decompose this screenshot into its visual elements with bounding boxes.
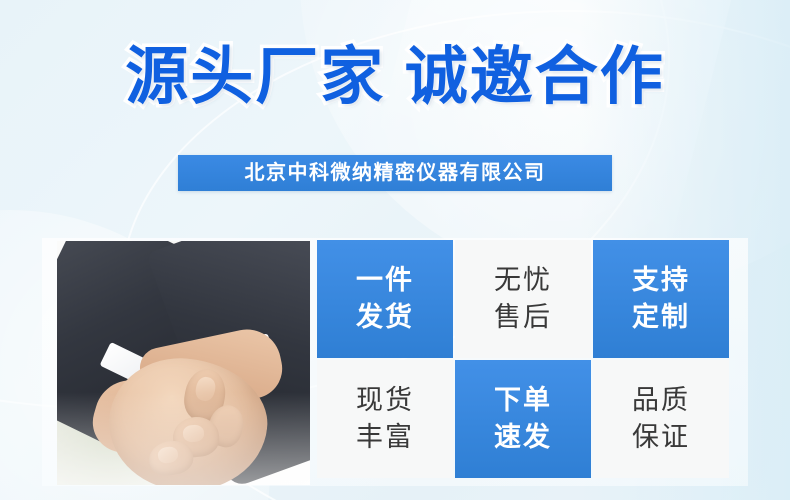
feature-cell-5[interactable]: 下单 速发 [455,360,591,478]
feature-cell-4[interactable]: 现货 丰富 [317,360,453,478]
feature-cell-2[interactable]: 无忧 售后 [455,240,591,358]
headline: 源头厂家 诚邀合作 [0,42,790,112]
feature-cell-3-line2: 定制 [632,299,690,336]
photo-bottom-fade [57,241,310,485]
feature-cell-5-line2: 速发 [494,419,552,456]
company-name-text: 北京中科微纳精密仪器有限公司 [245,163,546,183]
feature-cell-2-line2: 售后 [494,299,552,336]
feature-cell-6-line1: 品质 [632,382,690,419]
feature-cell-4-line2: 丰富 [356,419,414,456]
feature-cell-3[interactable]: 支持 定制 [593,240,729,358]
feature-grid: 一件 发货 无忧 售后 支持 定制 现货 丰富 下单 速发 品质 保证 [317,240,729,478]
background-light-wedge [349,0,731,250]
feature-cell-6[interactable]: 品质 保证 [593,360,729,478]
feature-cell-6-line2: 保证 [632,419,690,456]
feature-cell-5-line1: 下单 [494,382,552,419]
feature-cell-2-line1: 无忧 [494,262,552,299]
promo-banner: 源头厂家 诚邀合作 北京中科微纳精密仪器有限公司 一件 发货 无忧 售后 [0,0,790,500]
company-name-bar: 北京中科微纳精密仪器有限公司 [178,155,612,191]
handshake-photo [57,241,310,485]
feature-cell-1[interactable]: 一件 发货 [317,240,453,358]
feature-cell-1-line2: 发货 [356,299,414,336]
feature-cell-1-line1: 一件 [356,262,414,299]
feature-cell-3-line1: 支持 [632,262,690,299]
feature-cell-4-line1: 现货 [356,382,414,419]
